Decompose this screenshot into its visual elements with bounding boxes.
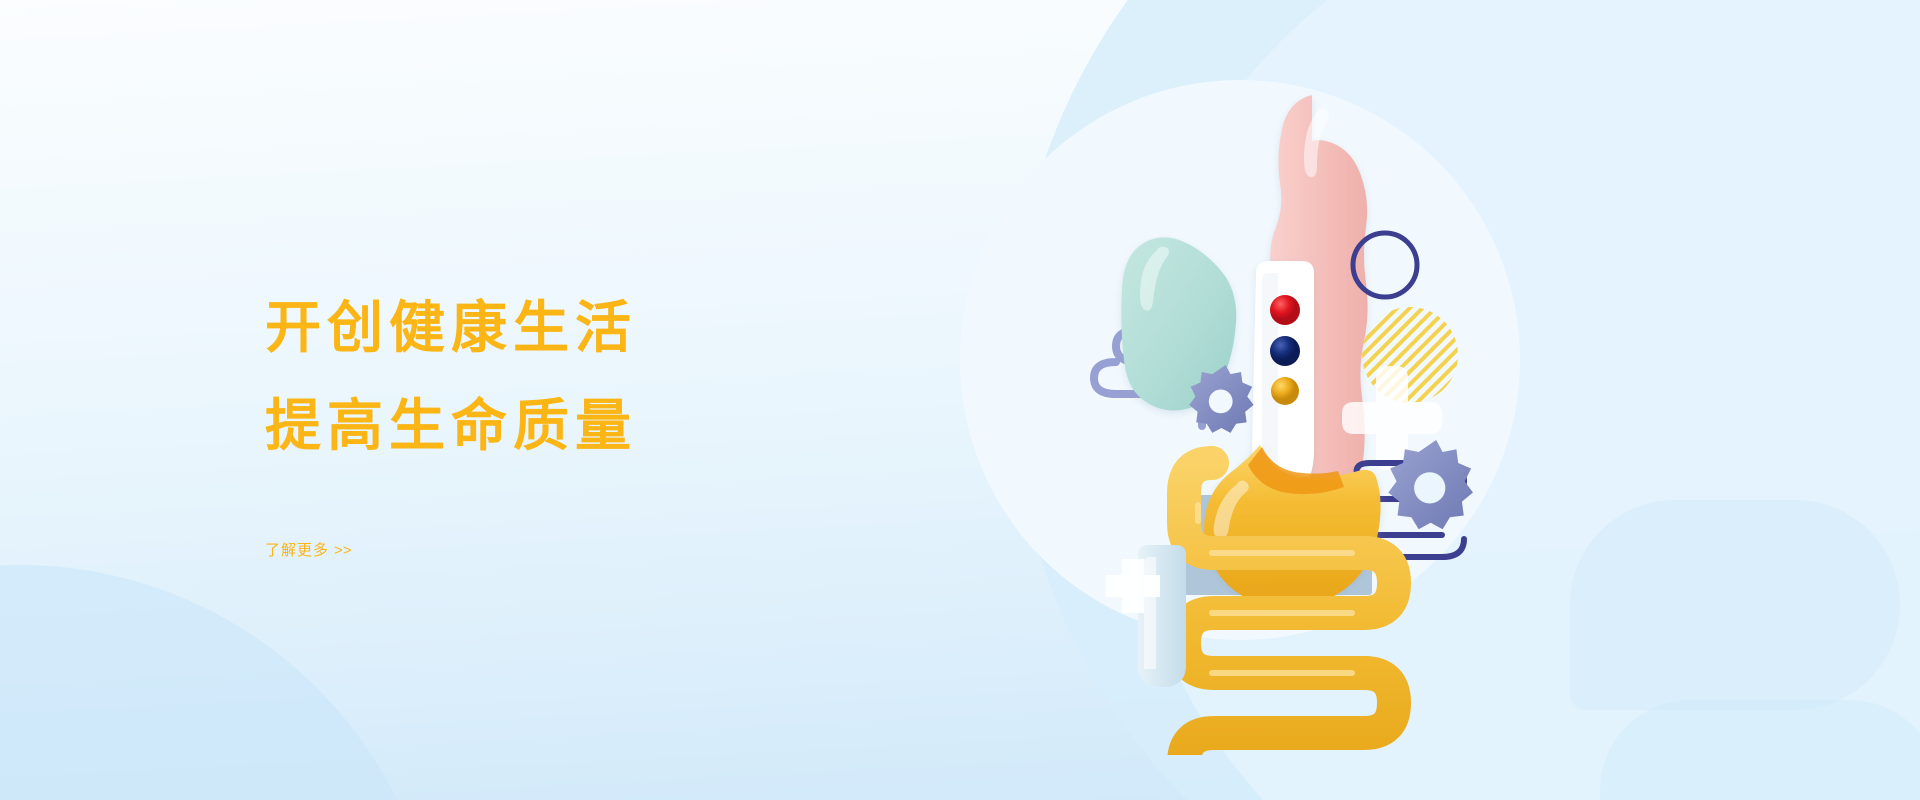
illustration-container bbox=[960, 55, 1640, 755]
chevron-double-right-icon: >> bbox=[334, 542, 352, 559]
test-tube-dot-navy bbox=[1270, 336, 1300, 366]
hero-text-block: 开创健康生活 提高生命质量 了解更多>> bbox=[265, 300, 885, 560]
test-tube-dot-amber bbox=[1271, 377, 1299, 405]
hero-banner: 开创健康生活 提高生命质量 了解更多>> bbox=[0, 0, 1920, 800]
test-tube-dot-red bbox=[1270, 295, 1300, 325]
headline-line-2: 提高生命质量 bbox=[265, 398, 885, 454]
vial-highlight bbox=[1144, 557, 1156, 669]
background-soft-shape-2 bbox=[1600, 700, 1920, 800]
learn-more-link[interactable]: 了解更多>> bbox=[265, 539, 352, 560]
background-circle-bottom-left bbox=[0, 565, 440, 800]
learn-more-label: 了解更多 bbox=[265, 542, 329, 559]
headline-line-1: 开创健康生活 bbox=[265, 300, 885, 356]
digestive-system-illustration bbox=[960, 55, 1640, 755]
